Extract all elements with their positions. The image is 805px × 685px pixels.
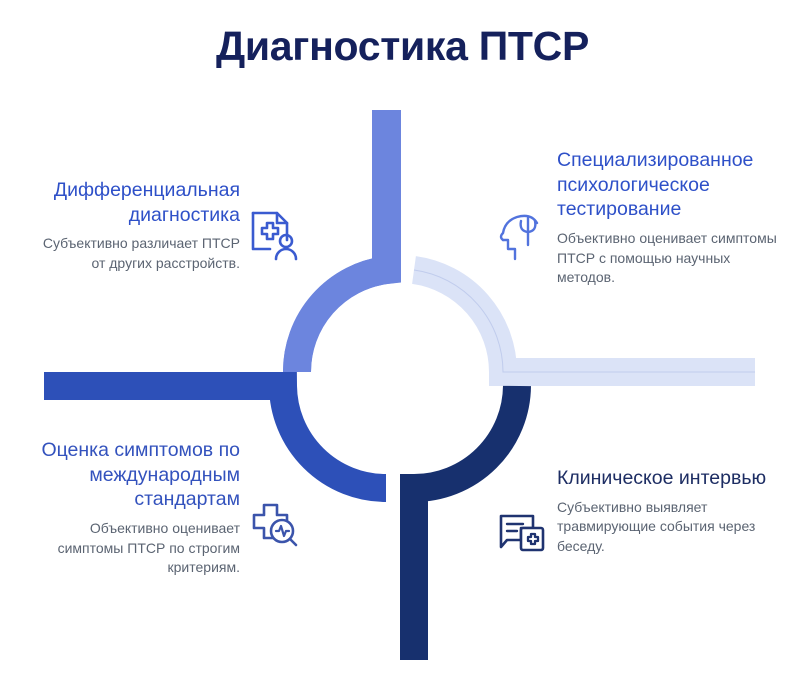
central-ring-diagram xyxy=(0,0,805,685)
medical-record-person-icon xyxy=(246,208,302,264)
quadrant-differential-diagnosis: Дифференциальная диагностика Субъективно… xyxy=(38,178,310,274)
quadrant-text-block: Специализированное психологическое тести… xyxy=(557,148,777,288)
quadrant-heading: Клиническое интервью xyxy=(557,466,777,491)
head-psychology-icon xyxy=(495,210,551,266)
infographic-canvas: Диагностика ПТСР Дифференциальная диагно… xyxy=(0,0,805,685)
medical-cross-magnifier-pulse-icon xyxy=(246,496,302,552)
arc-top-left xyxy=(297,110,387,372)
quadrant-heading: Дифференциальная диагностика xyxy=(38,178,240,227)
quadrant-heading: Специализированное психологическое тести… xyxy=(557,148,777,222)
quadrant-text-block: Оценка симптомов по международным станда… xyxy=(38,438,240,578)
quadrant-body: Субъективно выявляет травмирующие событи… xyxy=(557,498,777,558)
page-title: Диагностика ПТСР xyxy=(0,24,805,69)
quadrant-psychological-testing: Специализированное психологическое тести… xyxy=(495,148,785,288)
quadrant-body: Субъективно различает ПТСР от других рас… xyxy=(38,234,240,274)
quadrant-body: Объективно оценивает симптомы ПТСР по ст… xyxy=(38,519,240,579)
speech-bubble-medical-icon xyxy=(495,506,551,562)
quadrant-international-standards: Оценка симптомов по международным станда… xyxy=(38,438,310,578)
quadrant-text-block: Клиническое интервью Субъективно выявляе… xyxy=(557,466,777,557)
quadrant-body: Объективно оценивает симптомы ПТСР с пом… xyxy=(557,229,777,289)
quadrant-clinical-interview: Клиническое интервью Субъективно выявляе… xyxy=(495,466,785,562)
quadrant-text-block: Дифференциальная диагностика Субъективно… xyxy=(38,178,240,274)
quadrant-heading: Оценка симптомов по международным станда… xyxy=(38,438,240,512)
